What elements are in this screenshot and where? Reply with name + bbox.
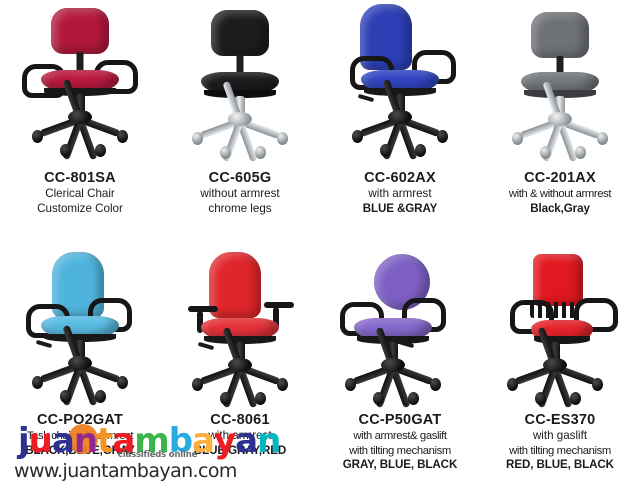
product-model: CC-8061 [160,412,320,429]
chair-caster [430,378,441,391]
chair-backrest [531,12,589,58]
product-desc-line: without armrest [160,187,320,202]
product-desc-line: with gaslift [480,429,640,444]
chair-base [32,114,128,148]
chair-base [352,114,448,148]
product-caption: CC-ES370 with gaslift with tilting mecha… [480,412,640,473]
base-hub [68,110,92,124]
chair-base [507,362,603,396]
chair-caster [415,144,426,157]
product-image-cc-p50gat[interactable] [320,244,480,412]
base-hub [548,112,572,126]
product-row-1: CC-801SA Clerical Chair Customize Color [0,0,640,240]
product-image-cc-po2gat[interactable] [0,244,160,412]
chair-height-lever [358,94,374,102]
chair-caster [192,132,203,145]
product-cell[interactable]: CC-602AX with armrest BLUE &GRAY [320,0,480,240]
chair-caster [60,144,71,157]
product-caption: CC-201AX with & without armrest Black,Gr… [480,170,640,216]
product-desc-line: Customize Color [0,202,160,217]
product-model: CC-201AX [480,170,640,187]
product-desc-line: RED, BLUE, BLACK [480,458,640,473]
chair-illustration [500,248,620,413]
product-desc-line: Task chair with armrest [0,429,160,444]
chair-caster [575,146,586,159]
product-cell[interactable]: CC-605G without armrest chrome legs [160,0,320,240]
product-cell[interactable]: CC-8061 with armrest BLUE,GRAY,RED [160,240,320,480]
product-caption: CC-8061 with armrest BLUE,GRAY,RED [160,412,320,458]
product-desc-line: BLACK,BLUE,GRAY [0,444,160,459]
product-desc-line: with armrest [320,187,480,202]
product-caption: CC-602AX with armrest BLUE &GRAY [320,170,480,216]
product-desc-line: with tilting mechanism [320,444,480,459]
chair-caster [437,130,448,143]
product-desc-line: BLUE &GRAY [320,202,480,217]
chair-illustration [340,4,460,169]
chair-illustration [20,248,140,413]
chair-armrest-left [188,306,218,312]
chair-backrest [533,254,583,306]
chair-caster [352,130,363,143]
base-hub [228,112,252,126]
base-hub [543,358,567,372]
product-desc-line: with & without armrest [480,187,640,202]
chair-caster [540,146,551,159]
chair-caster [32,376,43,389]
chair-caster [277,378,288,391]
chair-caster [255,146,266,159]
chair-illustration [340,248,460,413]
chair-backrest [51,8,109,54]
chair-height-lever [36,340,52,348]
chair-caster [277,132,288,145]
chair-backrest [211,10,269,56]
product-model: CC-605G [160,170,320,187]
product-desc-line: with armrest [160,429,320,444]
base-hub [228,358,252,372]
product-desc-line: with armrest& gaslift [320,429,480,444]
chair-caster [592,378,603,391]
product-model: CC-801SA [0,170,160,187]
chair-base [32,360,128,394]
chair-caster [32,130,43,143]
product-row-2: CC-PO2GAT Task chair with armrest BLACK,… [0,240,640,480]
product-image-cc-602ax[interactable] [320,0,480,170]
product-image-cc-201ax[interactable] [480,0,640,170]
chair-caster [95,390,106,403]
base-hub [68,356,92,370]
chair-base [512,116,608,150]
product-desc-line: BLUE,GRAY,RED [160,444,320,459]
chair-caster [570,392,581,405]
chair-caster [408,392,419,405]
chair-illustration [500,4,620,169]
chair-caster [507,378,518,391]
chair-caster [60,390,71,403]
product-caption: CC-801SA Clerical Chair Customize Color [0,170,160,216]
product-desc-line: with tilting mechanism [480,444,640,459]
chair-caster [380,144,391,157]
chair-caster [117,130,128,143]
product-model: CC-P50GAT [320,412,480,429]
base-hub [381,358,405,372]
chair-base [192,362,288,396]
product-cell[interactable]: CC-201AX with & without armrest Black,Gr… [480,0,640,240]
product-catalog: CC-801SA Clerical Chair Customize Color [0,0,640,480]
product-image-cc-605g[interactable] [160,0,320,170]
base-hub [388,110,412,124]
chair-caster [95,144,106,157]
product-cell[interactable]: CC-ES370 with gaslift with tilting mecha… [480,240,640,480]
product-desc-line: Clerical Chair [0,187,160,202]
chair-caster [255,392,266,405]
product-cell[interactable]: CC-P50GAT with armrest& gaslift with til… [320,240,480,480]
chair-caster [192,378,203,391]
chair-caster [220,392,231,405]
chair-illustration [180,248,300,413]
chair-illustration [20,4,140,169]
product-caption: CC-PO2GAT Task chair with armrest BLACK,… [0,412,160,458]
product-desc-line: Black,Gray [480,202,640,217]
chair-base [345,362,441,396]
chair-caster [117,376,128,389]
chair-armrest-right [264,302,294,308]
chair-caster [373,392,384,405]
chair-base [192,116,288,150]
product-image-cc-es370[interactable] [480,244,640,412]
product-desc-line: GRAY, BLUE, BLACK [320,458,480,473]
chair-caster [597,132,608,145]
product-model: CC-PO2GAT [0,412,160,429]
product-image-cc-801sa[interactable] [0,0,160,170]
chair-illustration [180,4,300,169]
chair-height-lever [198,342,214,350]
product-model: CC-ES370 [480,412,640,429]
product-desc-line: chrome legs [160,202,320,217]
chair-caster [345,378,356,391]
product-caption: CC-P50GAT with armrest& gaslift with til… [320,412,480,473]
product-caption: CC-605G without armrest chrome legs [160,170,320,216]
product-model: CC-602AX [320,170,480,187]
product-image-cc-8061[interactable] [160,244,320,412]
chair-caster [512,132,523,145]
product-cell[interactable]: CC-801SA Clerical Chair Customize Color [0,0,160,240]
product-cell[interactable]: CC-PO2GAT Task chair with armrest BLACK,… [0,240,160,480]
chair-caster [535,392,546,405]
chair-caster [220,146,231,159]
